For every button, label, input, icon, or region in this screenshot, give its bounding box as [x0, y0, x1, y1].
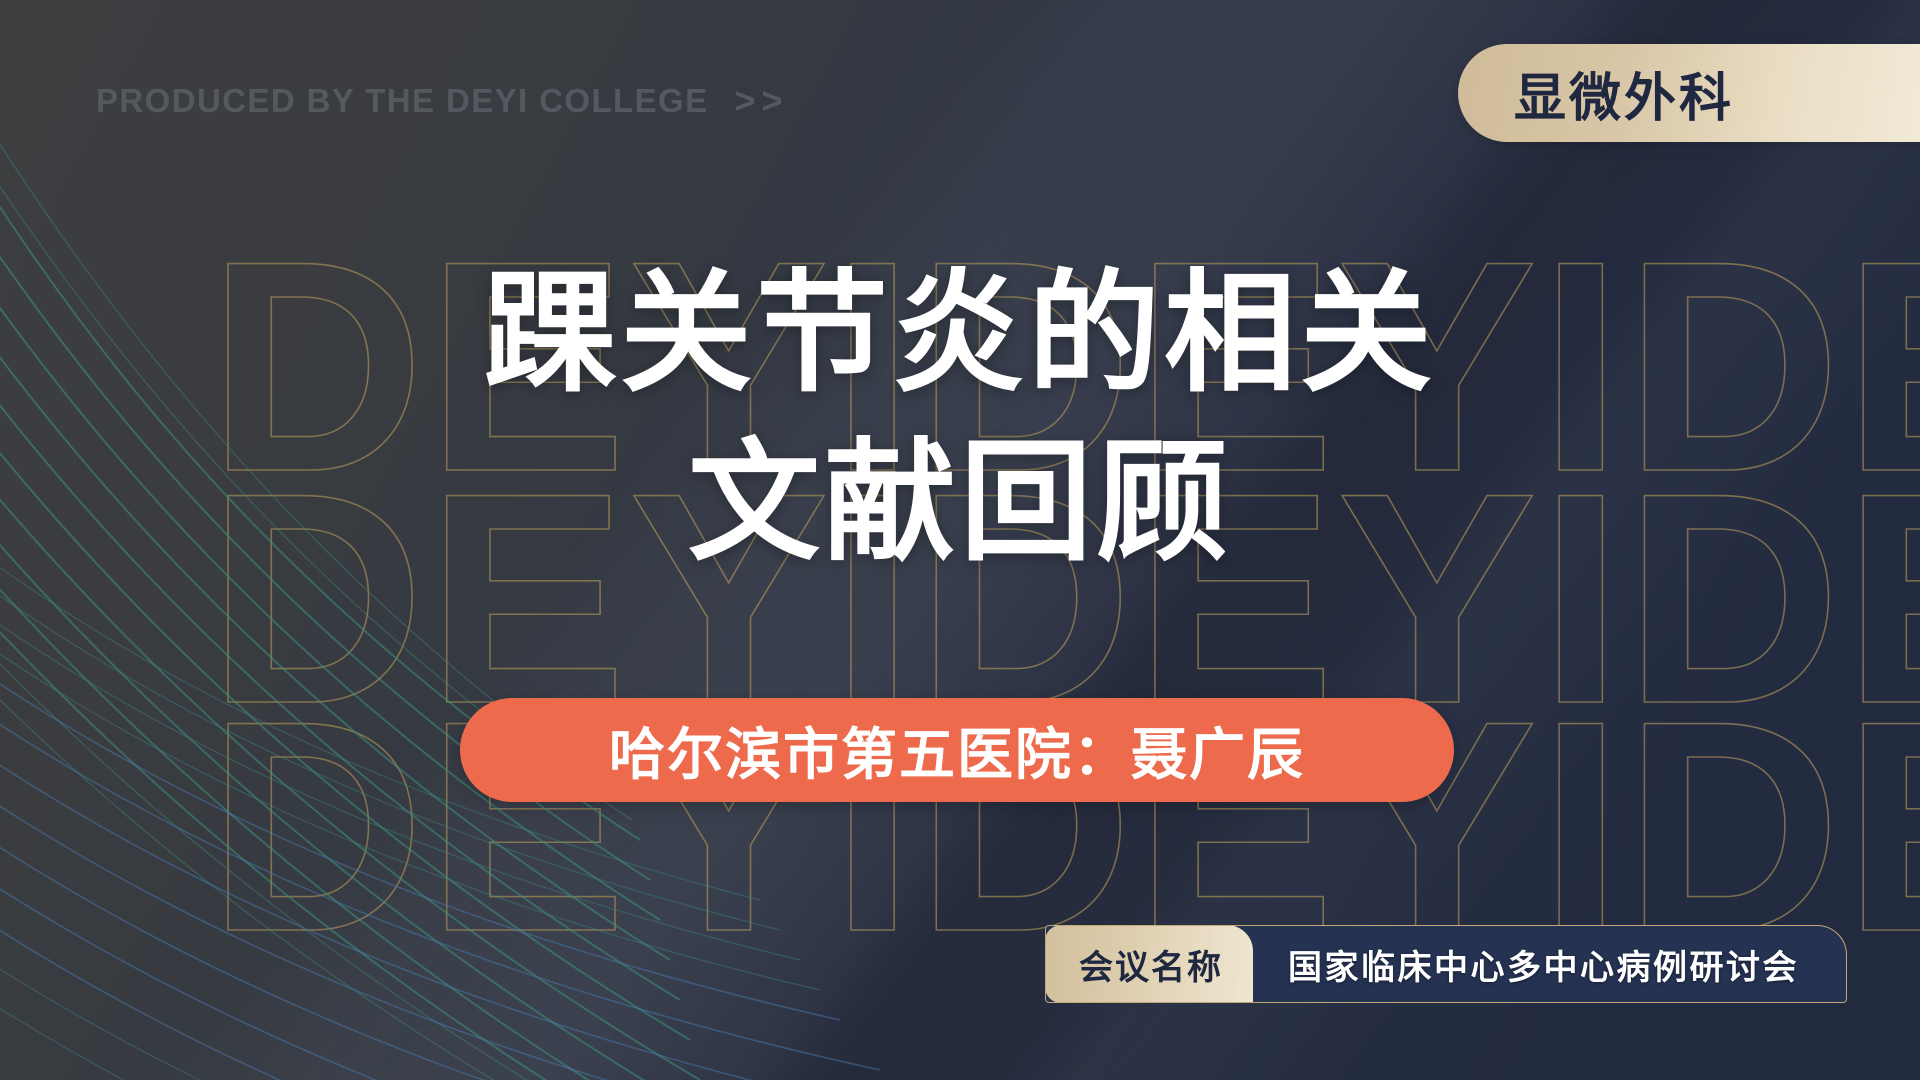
conference-name-label: 国家临床中心多中心病例研讨会	[1288, 940, 1799, 989]
conference-bar: 会议名称 国家临床中心多中心病例研讨会	[1045, 925, 1847, 1003]
department-badge: 显微外科	[1458, 44, 1920, 142]
speaker-label: 哈尔滨市第五医院：聂广辰	[609, 710, 1305, 791]
speaker-pill: 哈尔滨市第五医院：聂广辰	[460, 698, 1454, 802]
produced-by-label: PRODUCED BY THE DEYI COLLEGE	[96, 82, 709, 120]
conference-tag-label: 会议名称	[1079, 940, 1223, 989]
department-badge-label: 显微外科	[1514, 56, 1734, 131]
slide-title-line-1: 踝关节炎的相关	[0, 250, 1920, 419]
presentation-title-slide: DEYIDEYIDEYI DEYIDEYIDEYI DEYIDEYIDEYI	[0, 0, 1920, 1080]
conference-name-container: 国家临床中心多中心病例研讨会	[1253, 926, 1846, 1002]
produced-by-kicker: PRODUCED BY THE DEYI COLLEGE >>	[96, 82, 789, 120]
slide-title: 踝关节炎的相关 文献回顾	[0, 250, 1920, 588]
slide-title-line-2: 文献回顾	[0, 419, 1920, 588]
conference-tag: 会议名称	[1045, 925, 1253, 1003]
chevron-right-double-icon: >>	[729, 83, 789, 119]
